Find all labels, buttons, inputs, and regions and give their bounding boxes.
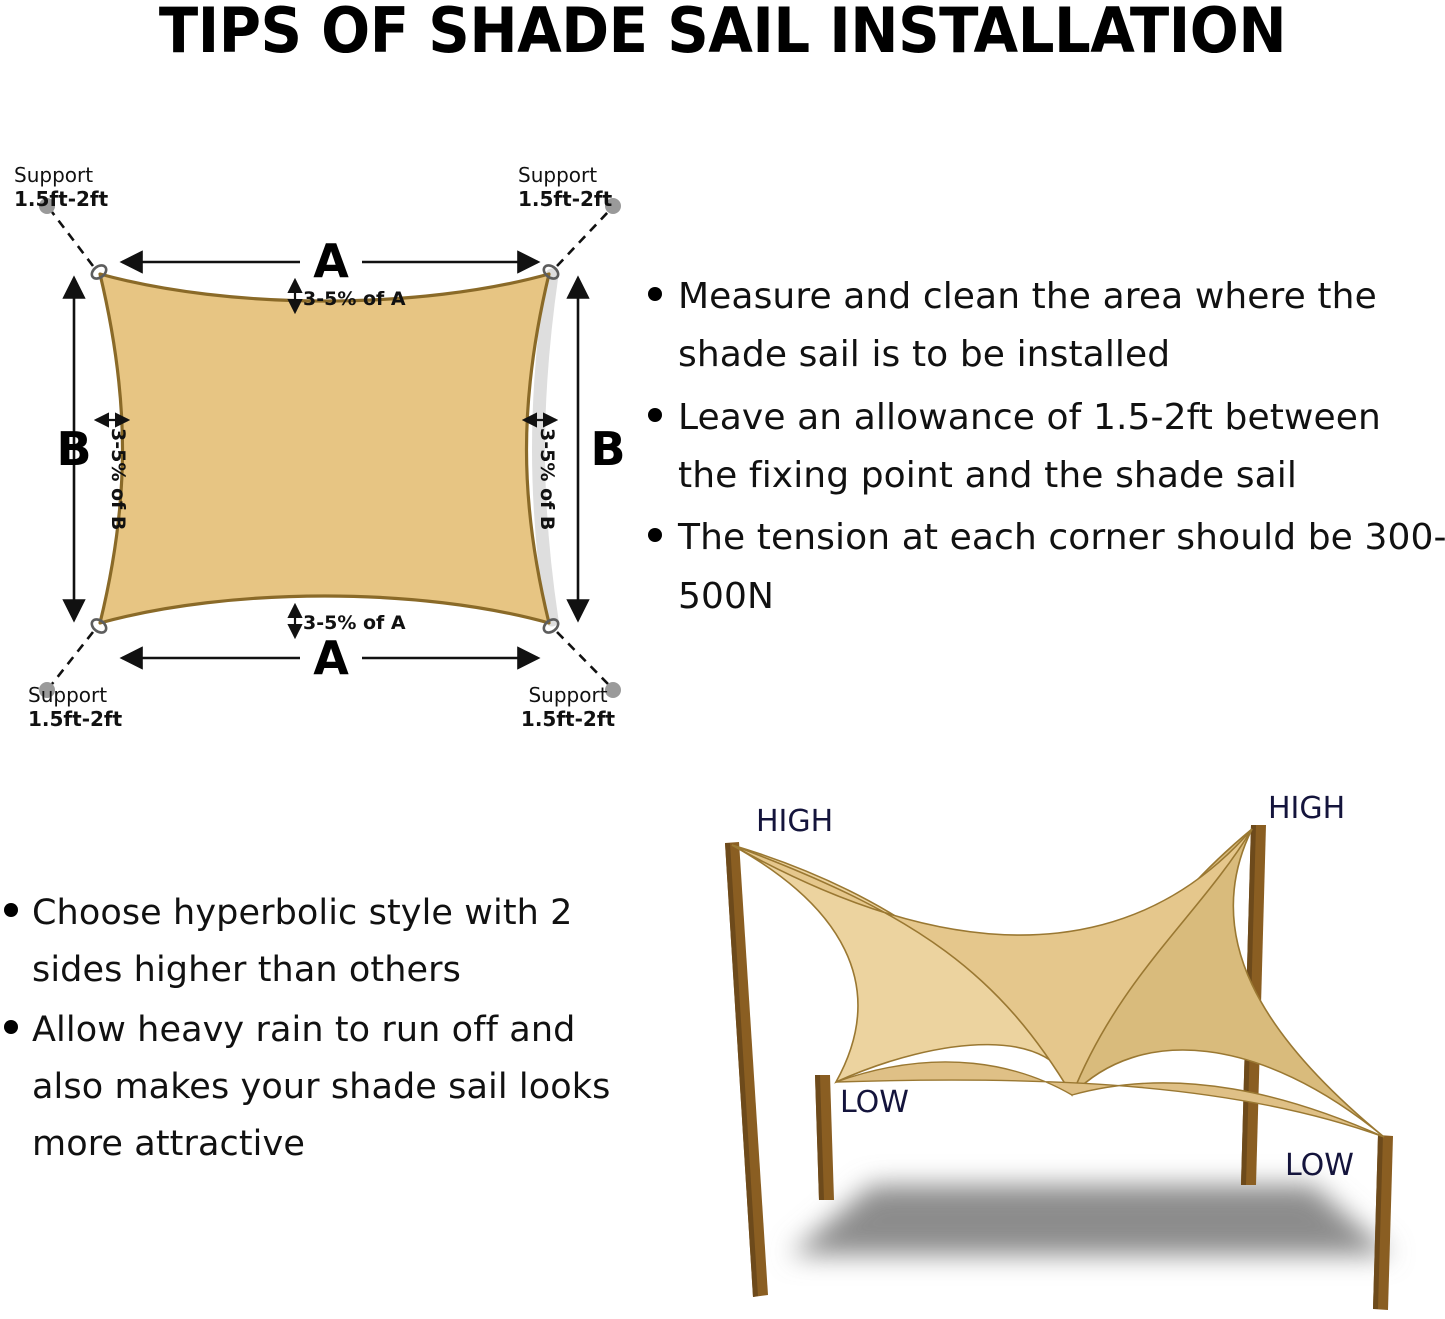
bullet-dot-icon <box>4 1020 18 1034</box>
hyperbolic-sail-diagram: HIGH HIGH LOW LOW <box>640 785 1445 1319</box>
post-label-high-right: HIGH <box>1268 791 1345 826</box>
curve-label-right-text: 3-5% of B <box>536 428 558 530</box>
support-label-top-right-line2: 1.5ft-2ft <box>518 187 613 211</box>
bullet-dot-icon <box>4 903 18 917</box>
ground-shadow <box>790 1185 1392 1255</box>
list-item: Choose hyperbolic style with 2 sides hig… <box>4 885 624 998</box>
list-item: Leave an allowance of 1.5-2ft between th… <box>648 389 1445 506</box>
tip-text: Choose hyperbolic style with 2 sides hig… <box>32 885 624 998</box>
tip-text: Leave an allowance of 1.5-2ft between th… <box>678 389 1445 506</box>
post-front-left-low <box>815 1075 834 1200</box>
post-back-left-high <box>725 842 768 1297</box>
support-label-top-left-line1: Support <box>14 163 93 187</box>
dimension-a-top: A <box>122 234 538 288</box>
installation-tips-top-list: Measure and clean the area where the sha… <box>648 268 1445 630</box>
support-label-top-right: Support 1.5ft-2ft <box>518 163 613 211</box>
dimension-b-right-label: B <box>590 422 625 476</box>
bullet-dot-icon <box>648 528 662 542</box>
support-label-bottom-right-line1: Support <box>528 683 607 707</box>
bullet-dot-icon <box>648 287 662 301</box>
curve-label-top: 3-5% of A <box>295 280 406 312</box>
support-label-top-left: Support 1.5ft-2ft <box>14 163 109 211</box>
post-front-right-low <box>1373 1135 1393 1310</box>
support-label-bottom-right: Support 1.5ft-2ft <box>521 683 616 730</box>
support-label-bottom-right-line2: 1.5ft-2ft <box>521 707 616 730</box>
installation-tips-bottom-list: Choose hyperbolic style with 2 sides hig… <box>4 885 624 1176</box>
list-item: The tension at each corner should be 300… <box>648 509 1445 626</box>
dimension-a-top-label: A <box>313 234 349 288</box>
curve-label-top-text: 3-5% of A <box>303 288 406 310</box>
page-title: TIPS OF SHADE SAIL INSTALLATION <box>51 0 1395 67</box>
dimension-b-right: B <box>578 278 626 620</box>
curve-label-left-text: 3-5% of B <box>107 428 129 530</box>
support-label-bottom-left-line1: Support <box>28 683 107 707</box>
support-label-top-right-line1: Support <box>518 163 597 187</box>
support-label-bottom-left: Support 1.5ft-2ft <box>28 683 123 730</box>
curve-label-bottom-text: 3-5% of A <box>303 612 406 634</box>
tip-text: Measure and clean the area where the sha… <box>678 268 1445 385</box>
sail-body <box>100 274 549 623</box>
rectangular-sail-diagram: Support 1.5ft-2ft Support 1.5ft-2ft Supp… <box>0 150 660 730</box>
support-label-top-left-line2: 1.5ft-2ft <box>14 187 109 211</box>
dimension-a-bottom: A <box>122 631 538 685</box>
dimension-a-bottom-label: A <box>313 631 349 685</box>
bullet-dot-icon <box>648 408 662 422</box>
support-label-bottom-left-line2: 1.5ft-2ft <box>28 707 123 730</box>
post-label-high-left: HIGH <box>756 804 833 839</box>
tip-text: The tension at each corner should be 300… <box>678 509 1445 626</box>
post-label-low-left: LOW <box>840 1085 909 1120</box>
list-item: Allow heavy rain to run off and also mak… <box>4 1002 624 1172</box>
curve-label-left: 3-5% of B <box>96 420 129 530</box>
curve-label-bottom: 3-5% of A <box>295 605 406 637</box>
dimension-b-left-label: B <box>56 422 91 476</box>
post-label-low-right: LOW <box>1285 1148 1354 1183</box>
tip-text: Allow heavy rain to run off and also mak… <box>32 1002 624 1172</box>
list-item: Measure and clean the area where the sha… <box>648 268 1445 385</box>
dimension-b-left: B <box>56 278 91 620</box>
